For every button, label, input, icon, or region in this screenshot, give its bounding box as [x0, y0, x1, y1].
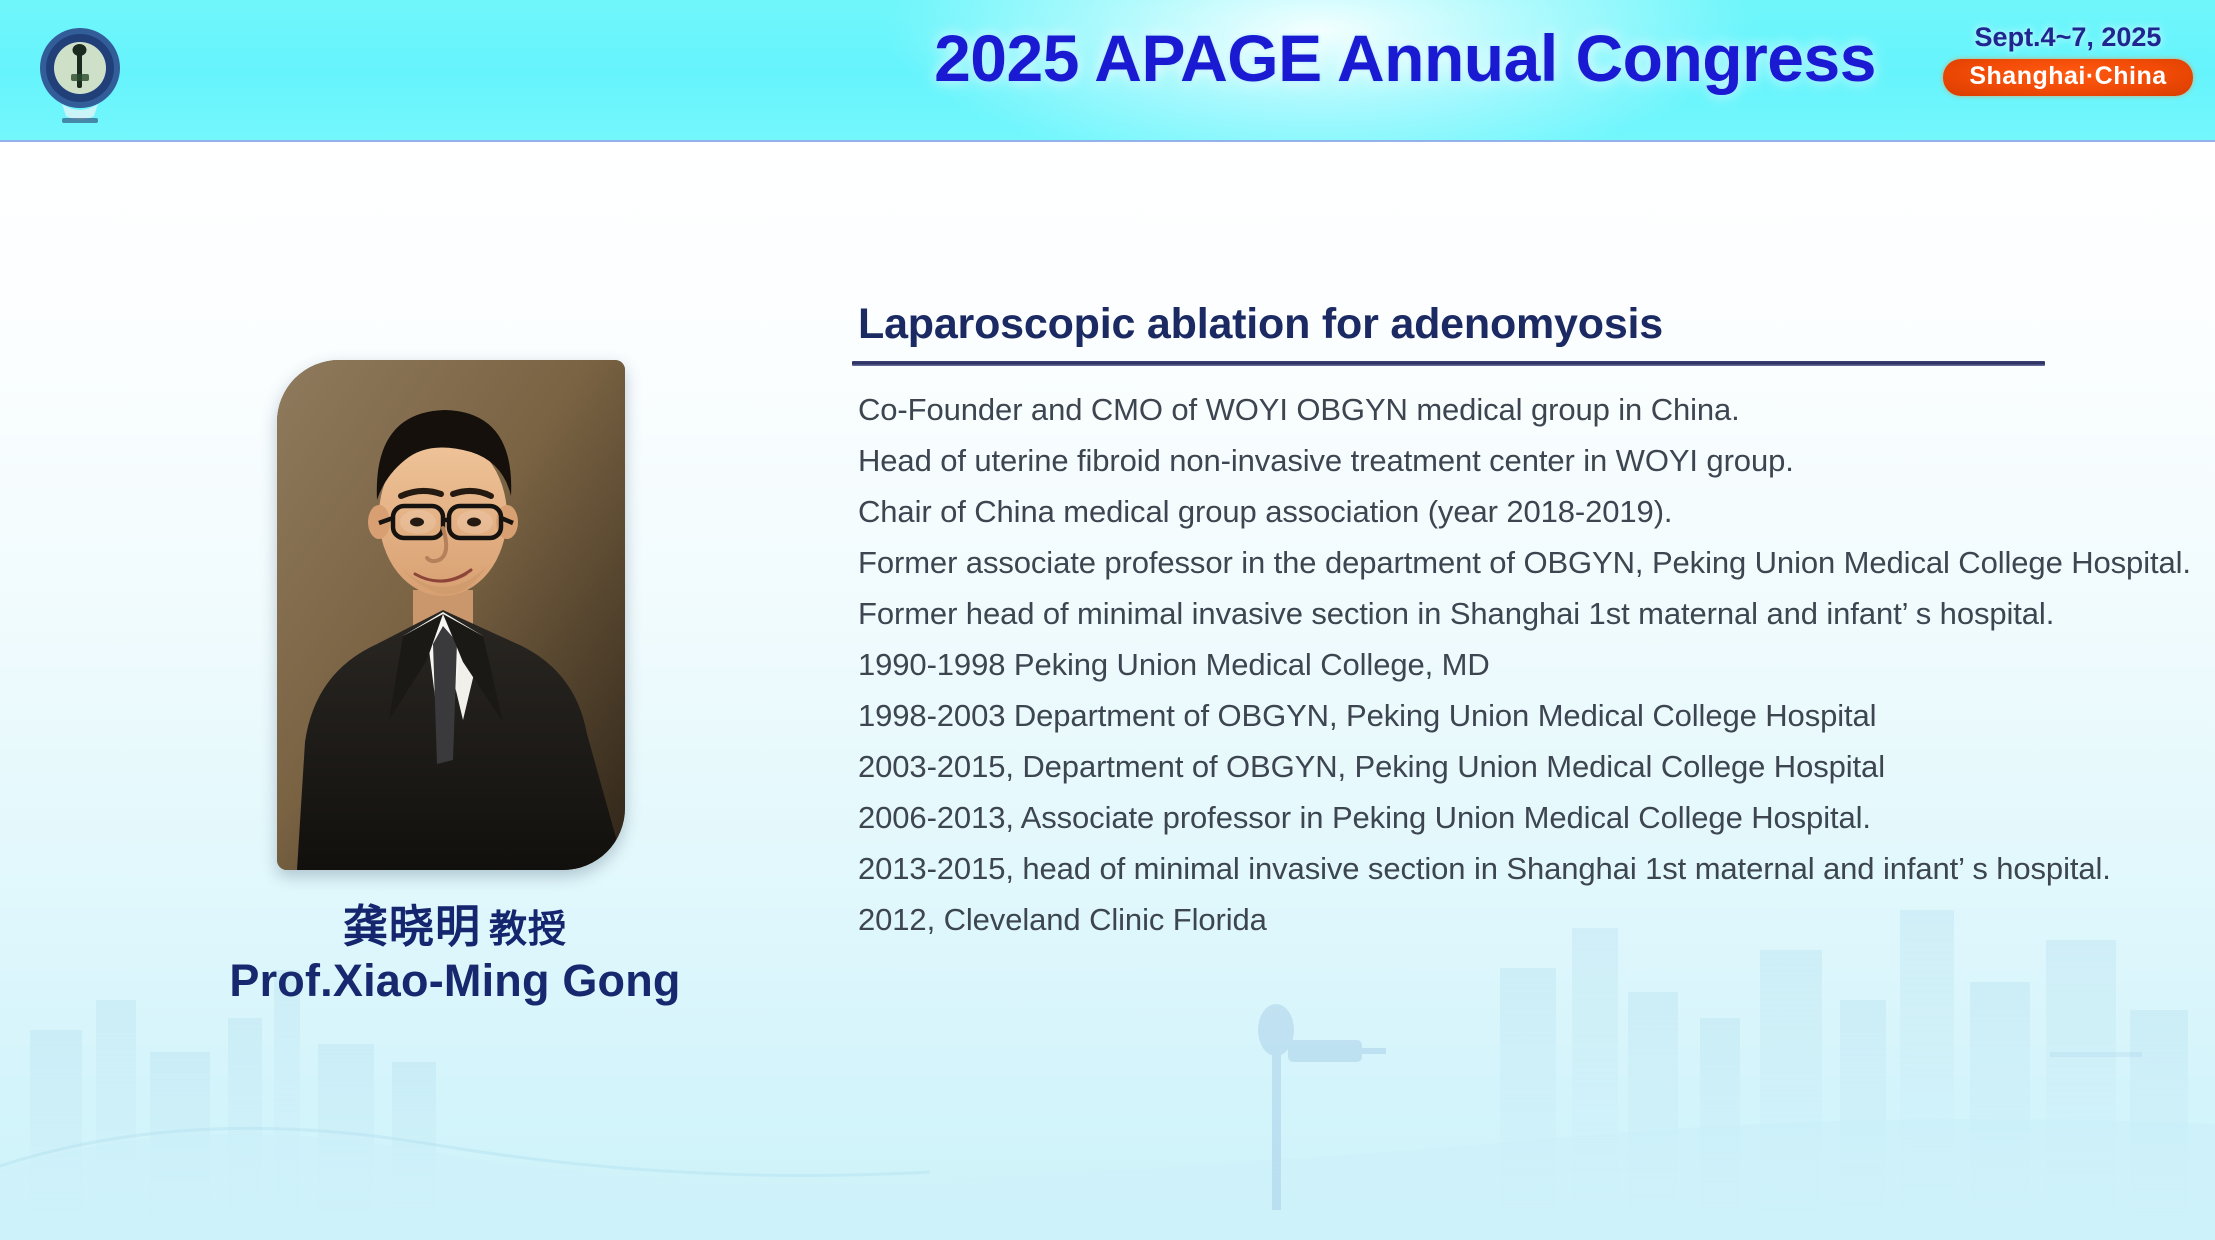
bio-line: Chair of China medical group association…: [858, 486, 2178, 537]
slide-body: 龚晓明教授 Prof.Xiao-Ming Gong Laparoscopic a…: [0, 142, 2215, 1240]
bio-line: 1998-2003 Department of OBGYN, Peking Un…: [858, 690, 2178, 741]
bio-line: 2006-2013, Associate professor in Peking…: [858, 792, 2178, 843]
bio-line: Co-Founder and CMO of WOYI OBGYN medical…: [858, 384, 2178, 435]
congress-title: 2025 APAGE Annual Congress: [880, 20, 1930, 96]
speaker-name-cn: 龚晓明教授: [210, 890, 700, 955]
talk-title: Laparoscopic ablation for adenomyosis: [858, 300, 1663, 349]
bio-line: 2003-2015, Department of OBGYN, Peking U…: [858, 741, 2178, 792]
talk-title-underline: [852, 361, 2045, 366]
presentation-slide: 2025 APAGE Annual Congress Sept.4~7, 202…: [0, 0, 2215, 1240]
bio-line: 1990-1998 Peking Union Medical College, …: [858, 639, 2178, 690]
speaker-title-cn-text: 教授: [489, 907, 567, 951]
apage-congress-emblem-icon: [32, 18, 128, 130]
congress-dates: Sept.4~7, 2025: [1943, 22, 2193, 53]
speaker-name-en: Prof.Xiao-Ming Gong: [210, 955, 700, 1007]
bio-line: 2013-2015, head of minimal invasive sect…: [858, 843, 2178, 894]
congress-city-badge: Shanghai·China: [1943, 59, 2192, 96]
bio-line: 2012, Cleveland Clinic Florida: [858, 894, 2178, 945]
speaker-photo: [277, 360, 625, 870]
speaker-bio-list: Co-Founder and CMO of WOYI OBGYN medical…: [858, 384, 2178, 945]
bio-line: Former head of minimal invasive section …: [858, 588, 2178, 639]
congress-meta: Sept.4~7, 2025 Shanghai·China: [1943, 22, 2193, 96]
bio-line: Former associate professor in the depart…: [858, 537, 2178, 588]
speaker-name-cn-text: 龚晓明: [343, 900, 481, 953]
bio-line: Head of uterine fibroid non-invasive tre…: [858, 435, 2178, 486]
speaker-photo-frame: [277, 360, 625, 870]
congress-header-banner: 2025 APAGE Annual Congress Sept.4~7, 202…: [0, 0, 2215, 142]
